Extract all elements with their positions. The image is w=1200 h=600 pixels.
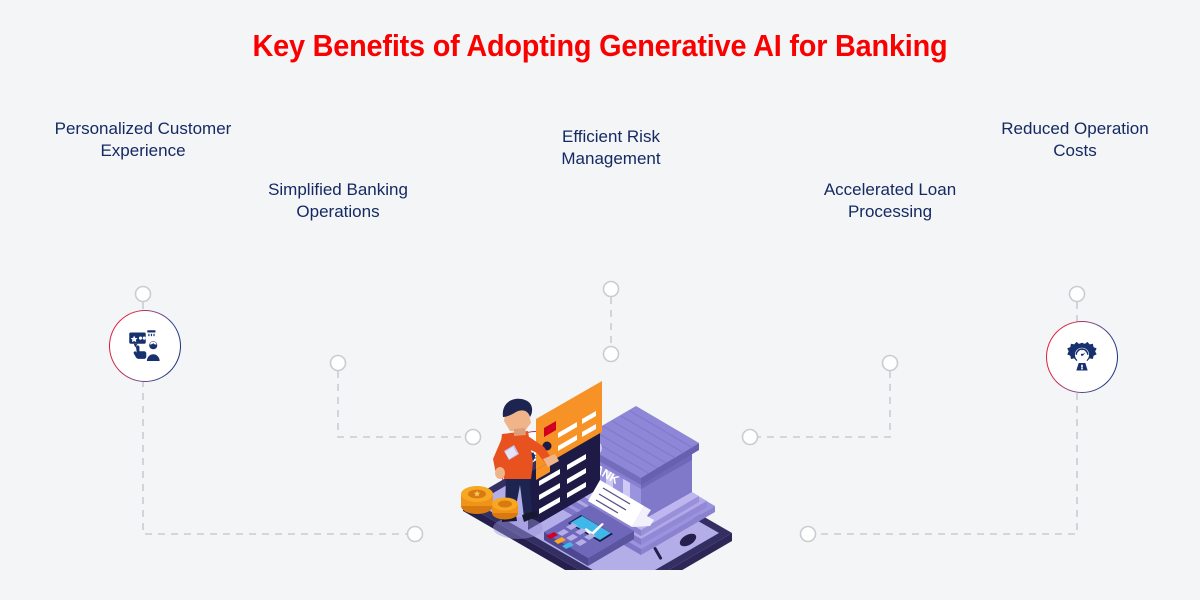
- infographic-canvas: Key Benefits of Adopting Generative AI f…: [0, 0, 1200, 600]
- benefit-label-efficient-risk-management: Efficient Risk Management: [471, 126, 751, 171]
- connector-dot-right-outer-bottom: [801, 527, 816, 542]
- benefit-label-reduced-operation-costs: Reduced Operation Costs: [935, 118, 1200, 163]
- connector-dot-left-outer-bottom: [408, 527, 423, 542]
- benefit-icon-circle-personalized-customer-experience[interactable]: [109, 310, 181, 382]
- connector-dot-right-inner-left: [743, 430, 758, 445]
- benefit-label-personalized-customer-experience: Personalized Customer Experience: [3, 118, 283, 163]
- benefit-node-simplified-banking-operations[interactable]: Simplified Banking Operations: [198, 179, 478, 369]
- benefit-label-simplified-banking-operations: Simplified Banking Operations: [198, 179, 478, 224]
- customer-review-rating-icon: [127, 328, 163, 364]
- benefit-icon-circle-efficient-risk-management[interactable]: [1046, 321, 1118, 393]
- benefit-node-reduced-operation-costs[interactable]: Reduced Operation Costs: [935, 118, 1200, 308]
- benefit-node-efficient-risk-management[interactable]: Efficient Risk Management: [471, 126, 751, 316]
- isometric-mobile-banking-illustration: BANK: [440, 355, 740, 570]
- gear-risk-gauge-icon: [1064, 339, 1100, 375]
